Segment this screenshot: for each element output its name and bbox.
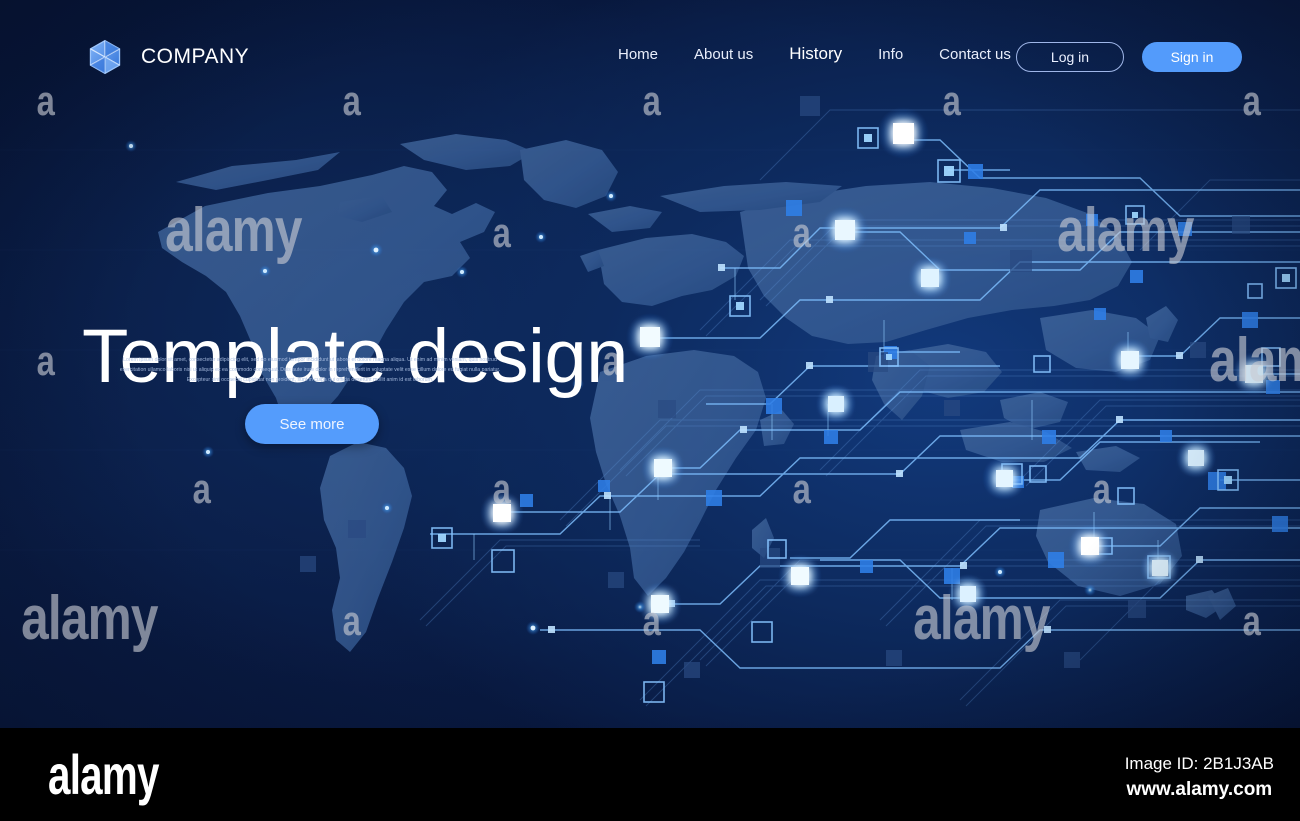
hero-cta-wrapper: See more <box>245 404 379 444</box>
nav-item-about-us[interactable]: About us <box>676 46 771 63</box>
auth-button-group: Log in Sign in <box>1016 42 1242 72</box>
hexagon-logo-icon <box>85 37 125 77</box>
brand-name: COMPANY <box>141 45 249 69</box>
nav-item-home[interactable]: Home <box>600 46 676 63</box>
image-id-label: Image ID: 2B1J3AB <box>1125 752 1274 777</box>
brand-logo-group[interactable]: COMPANY <box>85 37 249 77</box>
alamy-footer-logo: alamy <box>48 747 159 803</box>
hero-paragraph: Lorem ipsum dolor sit amet, consectetur … <box>110 355 510 385</box>
signin-button[interactable]: Sign in <box>1142 42 1242 72</box>
alamy-footer-bar: alamy Image ID: 2B1J3AB www.alamy.com <box>0 728 1300 821</box>
login-button[interactable]: Log in <box>1016 42 1124 72</box>
main-navigation: Home About us History Info Contact us <box>600 44 1029 64</box>
hero-banner: a a a a a alamy alamy a a a a alamy a a … <box>0 0 1300 728</box>
nav-item-info[interactable]: Info <box>860 46 921 63</box>
site-header: COMPANY Home About us History Info Conta… <box>0 0 1300 112</box>
nav-item-history[interactable]: History <box>771 44 860 64</box>
see-more-button[interactable]: See more <box>245 404 379 444</box>
alamy-url-label[interactable]: www.alamy.com <box>1125 777 1274 803</box>
footer-meta: Image ID: 2B1J3AB www.alamy.com <box>1125 752 1274 802</box>
nav-item-contact-us[interactable]: Contact us <box>921 46 1029 63</box>
page-root: a a a a a alamy alamy a a a a alamy a a … <box>0 0 1300 821</box>
